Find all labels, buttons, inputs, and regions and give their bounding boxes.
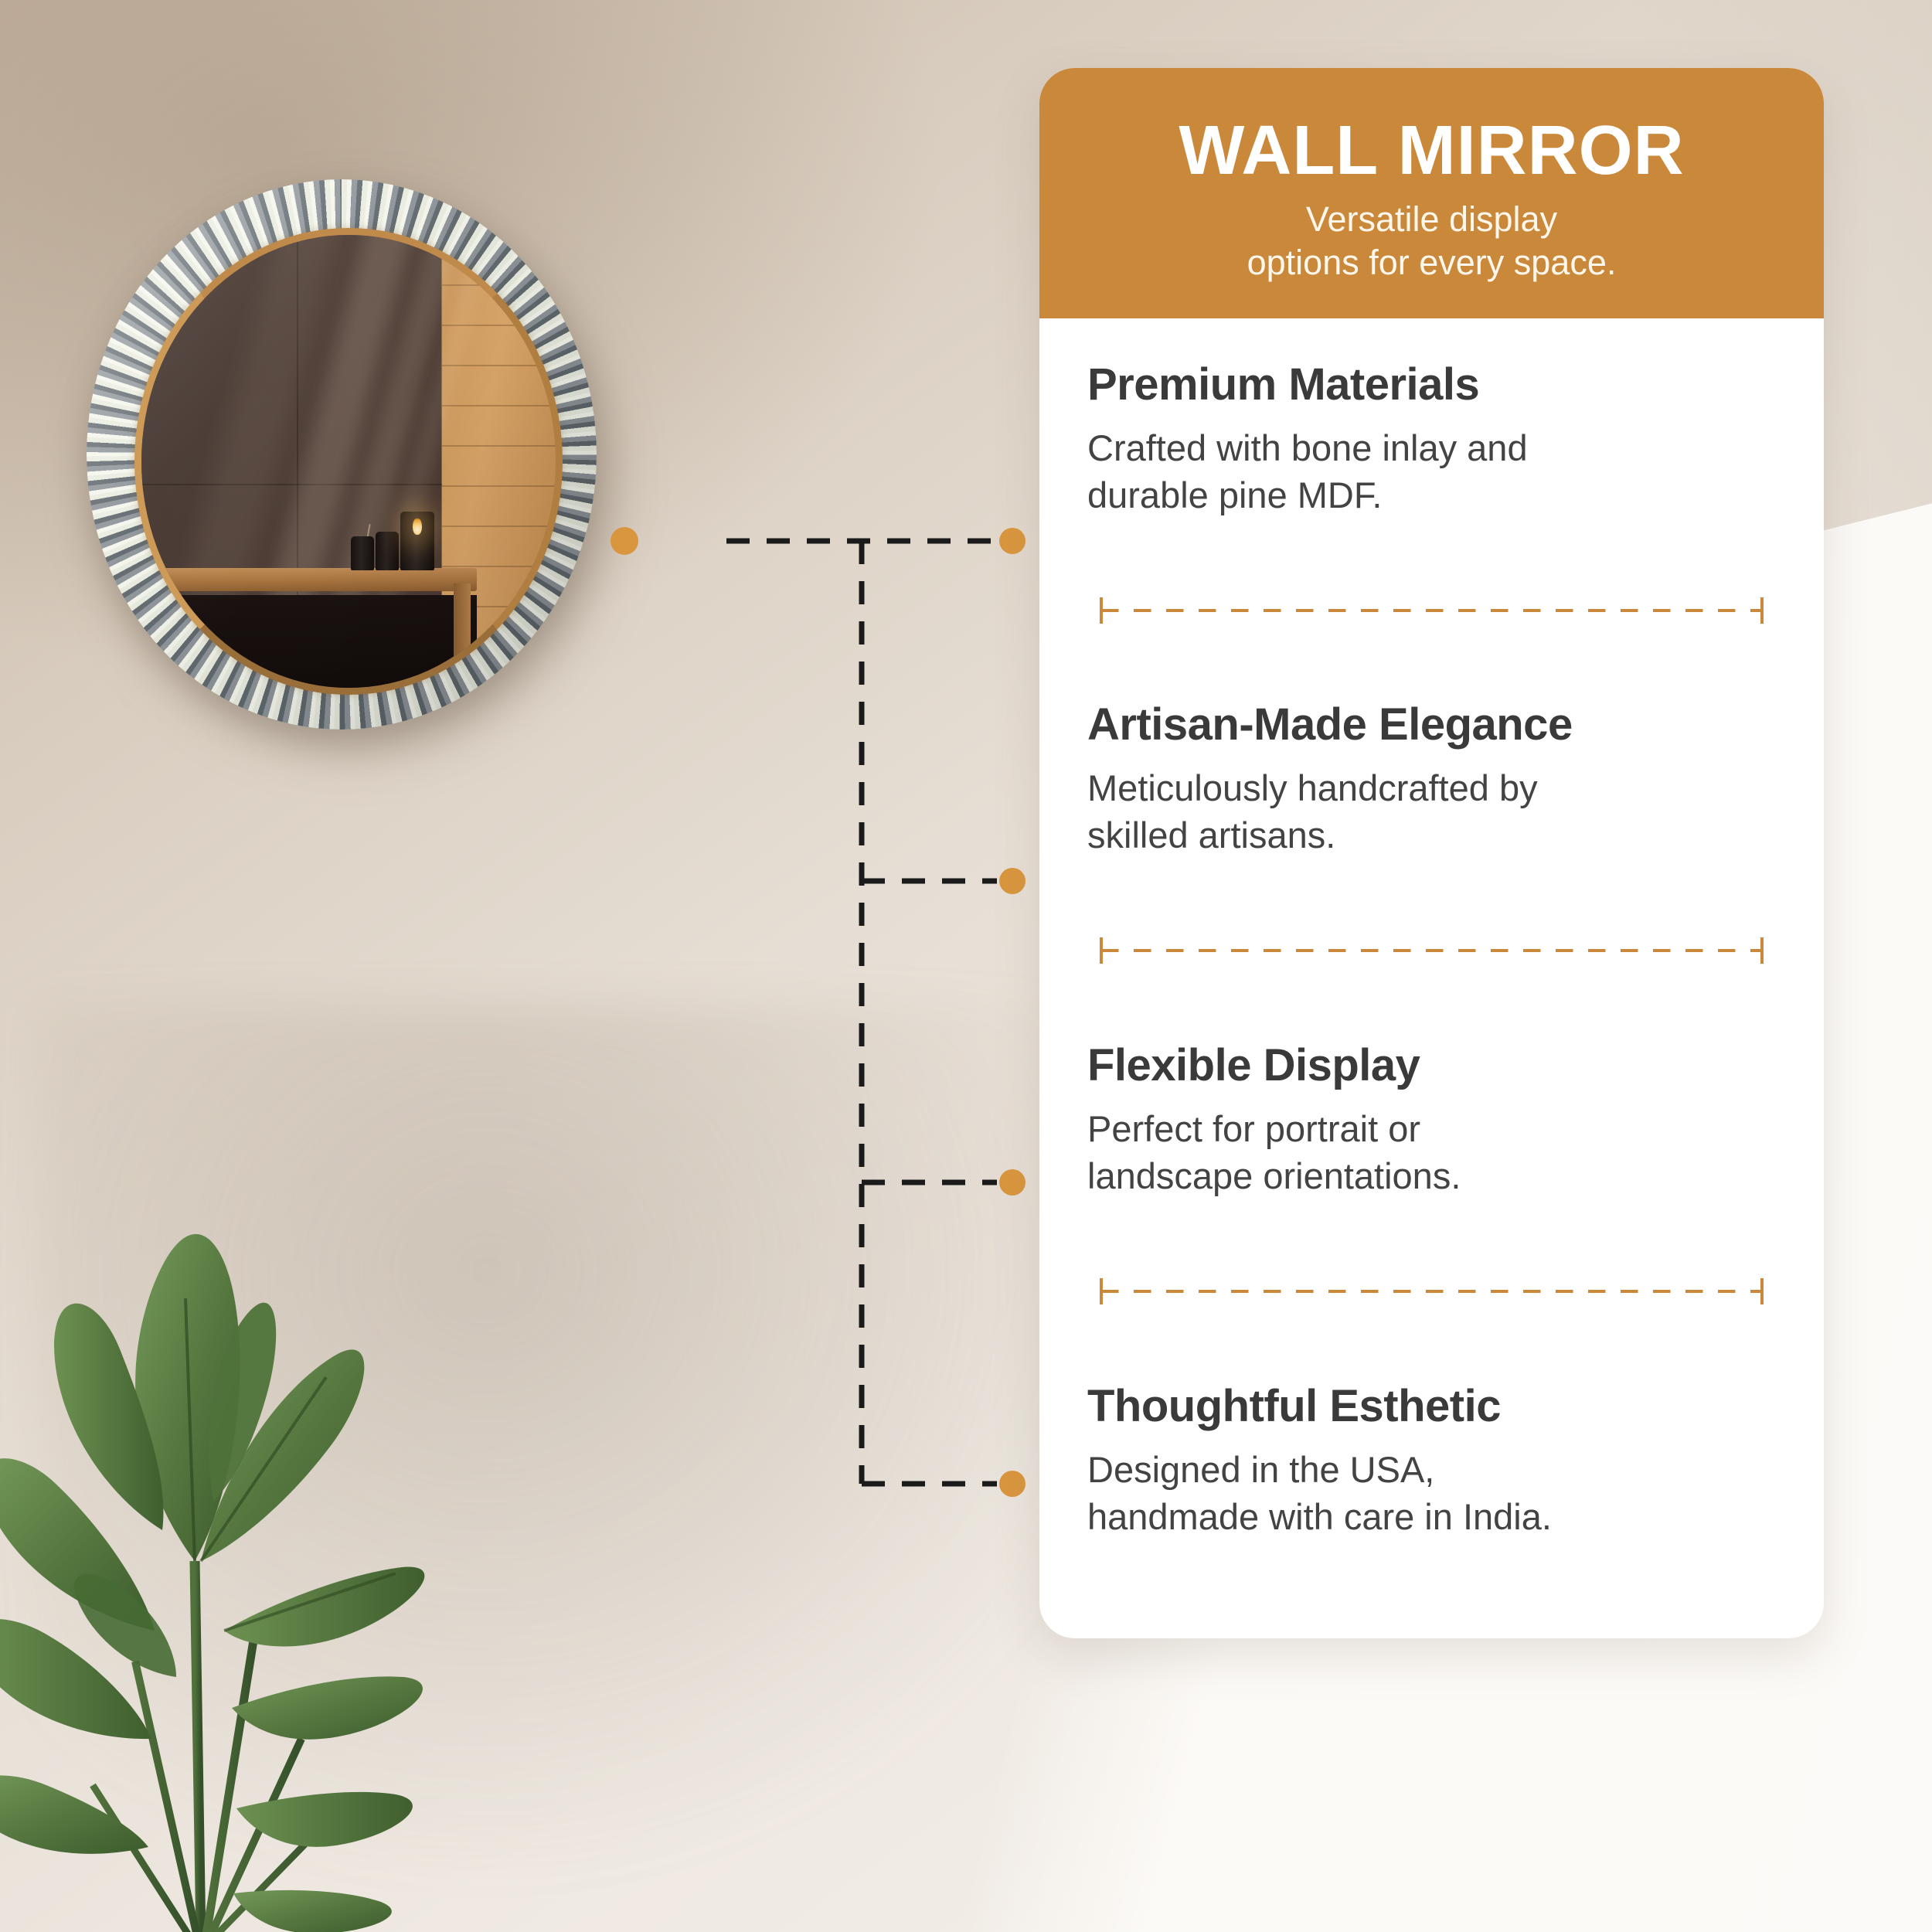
feature-desc-line-2: handmade with care in India. — [1087, 1496, 1552, 1537]
feature-divider-2 — [1101, 949, 1762, 952]
callout-dot-3 — [999, 1169, 1026, 1196]
reflected-table-leg — [454, 583, 471, 665]
feature-desc-line-1: Perfect for portrait or — [1087, 1108, 1420, 1149]
spacer — [1087, 646, 1776, 701]
panel-header: WALL MIRROR Versatile display options fo… — [1039, 68, 1824, 318]
reflected-candle — [351, 536, 374, 570]
callout-dot-4 — [999, 1471, 1026, 1497]
mirror-frame — [87, 179, 597, 730]
feature-title: Premium Materials — [1087, 360, 1776, 410]
feature-desc-line-1: Designed in the USA, — [1087, 1449, 1434, 1490]
feature-divider-1 — [1101, 609, 1762, 612]
wall-mirror-product — [87, 179, 597, 730]
feature-item-artisan-made-elegance: Artisan-Made Elegance Meticulously handc… — [1087, 700, 1776, 859]
reflected-candle — [376, 532, 399, 570]
feature-title: Artisan-Made Elegance — [1087, 700, 1776, 750]
feature-desc-line-1: Crafted with bone inlay and — [1087, 427, 1528, 468]
mirror-hotspot-dot — [611, 527, 638, 555]
feature-description: Crafted with bone inlay and durable pine… — [1087, 424, 1776, 519]
spacer — [1087, 1540, 1776, 1595]
infographic-canvas: WALL MIRROR Versatile display options fo… — [0, 0, 1932, 1932]
feature-divider-3 — [1101, 1290, 1762, 1293]
mirror-reflection — [141, 235, 556, 689]
feature-title: Flexible Display — [1087, 1041, 1776, 1091]
feature-item-premium-materials: Premium Materials Crafted with bone inla… — [1087, 360, 1776, 519]
panel-subtitle-line-1: Versatile display — [1306, 199, 1557, 239]
feature-desc-line-1: Meticulously handcrafted by — [1087, 767, 1538, 808]
candle-flame-icon — [413, 518, 422, 535]
feature-item-flexible-display: Flexible Display Perfect for portrait or… — [1087, 1041, 1776, 1199]
feature-description: Designed in the USA, handmade with care … — [1087, 1446, 1776, 1540]
feature-desc-line-2: landscape orientations. — [1087, 1155, 1461, 1196]
spacer — [1087, 986, 1776, 1041]
reflected-console-table — [158, 568, 477, 591]
spacer — [1087, 1199, 1776, 1254]
feature-item-thoughtful-esthetic: Thoughtful Esthetic Designed in the USA,… — [1087, 1382, 1776, 1540]
feature-description: Meticulously handcrafted by skilled arti… — [1087, 764, 1776, 859]
feature-desc-line-2: durable pine MDF. — [1087, 474, 1382, 515]
reflected-table-underside — [158, 595, 477, 688]
brass-inner-ring — [134, 228, 563, 696]
spacer — [1087, 859, 1776, 914]
feature-title: Thoughtful Esthetic — [1087, 1382, 1776, 1432]
feature-panel: WALL MIRROR Versatile display options fo… — [1039, 68, 1824, 1638]
panel-body: Premium Materials Crafted with bone inla… — [1039, 318, 1824, 1638]
panel-subtitle-line-2: options for every space. — [1247, 243, 1617, 282]
spacer — [1087, 1327, 1776, 1382]
callout-dot-1 — [999, 528, 1026, 554]
spacer — [1087, 519, 1776, 573]
panel-subtitle: Versatile display options for every spac… — [1081, 198, 1782, 284]
page-title: WALL MIRROR — [1081, 116, 1782, 185]
feature-desc-line-2: skilled artisans. — [1087, 815, 1335, 855]
callout-dot-2 — [999, 868, 1026, 894]
feature-description: Perfect for portrait or landscape orient… — [1087, 1105, 1776, 1199]
